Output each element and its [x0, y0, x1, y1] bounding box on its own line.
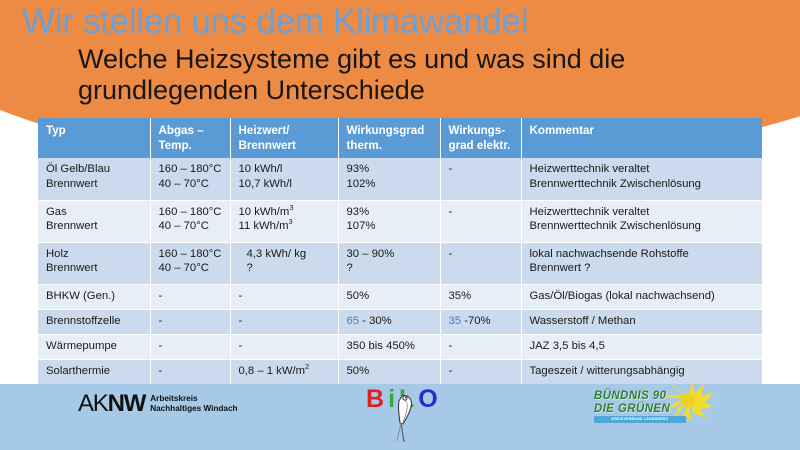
- aknw-logo: AKNW Arbeitskreis Nachhaltiges Windach: [78, 392, 238, 416]
- header-line-1: Abgas –: [159, 124, 224, 139]
- cell-line: -: [449, 364, 515, 379]
- table-row: Wärmepumpe--350 bis 450%-JAZ 3,5 bis 4,5: [38, 334, 762, 359]
- value-rest: -70%: [461, 315, 491, 327]
- cell-line: 160 – 180°C: [159, 162, 224, 177]
- cell-line: ?: [347, 261, 434, 276]
- cell-abgas-temp: -: [150, 309, 230, 334]
- cell-line: -: [449, 247, 515, 262]
- table-header-row: Typ Abgas – Temp. Heizwert/ Brennwert Wi…: [38, 118, 762, 158]
- cell-line: 10,7 kWh/l: [239, 177, 332, 192]
- cell-kommentar: Heizwerttechnik veraltetBrennwerttechnik…: [521, 158, 762, 200]
- cell-abgas-temp: -: [150, 334, 230, 359]
- cell-wirkungsgrad-elektr: 35 -70%: [440, 309, 521, 334]
- col-header-heizwert-brennwert: Heizwert/ Brennwert: [230, 118, 338, 158]
- header-line-1: Wirkungs-: [449, 124, 515, 139]
- cell-typ: GasBrennwert: [38, 200, 150, 242]
- cell-line: Brennstoffzelle: [46, 314, 144, 329]
- slide-title: Wir stellen uns dem Klimawandel: [22, 2, 528, 42]
- header-line-1: Kommentar: [530, 124, 757, 139]
- cell-wirkungsgrad-elektr: -: [440, 242, 521, 284]
- cell-line: -: [449, 339, 515, 354]
- cell-wirkungsgrad-therm: 350 bis 450%: [338, 334, 440, 359]
- table-row: Solarthermie-0,8 – 1 kW/m250%-Tageszeit …: [38, 359, 762, 384]
- cell-wirkungsgrad-elektr: -: [440, 158, 521, 200]
- highlighted-value: 65: [347, 315, 360, 327]
- cell-wirkungsgrad-therm: 93%107%: [338, 200, 440, 242]
- gruene-logo: BÜNDNIS 90 DIE GRÜNEN KREISVERBAND LANDS…: [594, 388, 754, 430]
- cell-kommentar: JAZ 3,5 bis 4,5: [521, 334, 762, 359]
- cell-line: -: [239, 339, 332, 354]
- bird-icon: [388, 390, 422, 444]
- cell-line: 350 bis 450%: [347, 339, 434, 354]
- col-header-abgas-temp: Abgas – Temp.: [150, 118, 230, 158]
- cell-line: Tageszeit / witterungsabhängig: [530, 364, 757, 379]
- cell-line: 35 -70%: [449, 314, 515, 329]
- gruene-line-1: BÜNDNIS 90: [594, 390, 670, 403]
- gruene-wordmark: BÜNDNIS 90 DIE GRÜNEN: [594, 390, 670, 415]
- table-row: GasBrennwert160 – 180°C40 – 70°C10 kWh/m…: [38, 200, 762, 242]
- aknw-mark-thin: AK: [78, 390, 108, 417]
- cell-line: Brennwerttechnik Zwischenlösung: [530, 177, 757, 192]
- cell-wirkungsgrad-elektr: -: [440, 334, 521, 359]
- cell-line: Öl Gelb/Blau: [46, 162, 144, 177]
- cell-wirkungsgrad-therm: 50%: [338, 284, 440, 309]
- cell-kommentar: Gas/Öl/Biogas (lokal nachwachsend): [521, 284, 762, 309]
- heating-systems-table-wrapper: Typ Abgas – Temp. Heizwert/ Brennwert Wi…: [38, 118, 762, 384]
- cell-line: 93%: [347, 205, 434, 220]
- highlighted-value: 35: [449, 315, 462, 327]
- slide-canvas: Wir stellen uns dem Klimawandel Welche H…: [0, 0, 800, 450]
- gruene-line-2: DIE GRÜNEN: [594, 403, 670, 416]
- cell-abgas-temp: 160 – 180°C40 – 70°C: [150, 242, 230, 284]
- cell-line: -: [159, 314, 224, 329]
- table-row: Brennstoffzelle--65 - 30%35 -70%Wasserst…: [38, 309, 762, 334]
- cell-typ: Brennstoffzelle: [38, 309, 150, 334]
- cell-line: 160 – 180°C: [159, 205, 224, 220]
- cell-line: 50%: [347, 289, 434, 304]
- cell-line: lokal nachwachsende Rohstoffe: [530, 247, 757, 262]
- cell-heizwert: -: [230, 334, 338, 359]
- cell-line: -: [159, 289, 224, 304]
- header-line-2: therm.: [347, 139, 434, 154]
- cell-line: -: [159, 339, 224, 354]
- value-rest: - 30%: [359, 315, 392, 327]
- cell-line: Wärmepumpe: [46, 339, 144, 354]
- aknw-subtitle: Arbeitskreis Nachhaltiges Windach: [150, 394, 237, 413]
- cell-line: Gas/Öl/Biogas (lokal nachwachsend): [530, 289, 757, 304]
- cell-line: 102%: [347, 177, 434, 192]
- cell-typ: Öl Gelb/BlauBrennwert: [38, 158, 150, 200]
- cell-line: 0,8 – 1 kW/m2: [239, 364, 332, 379]
- cell-line: Wasserstoff / Methan: [530, 314, 757, 329]
- col-header-wirkungsgrad-elektr: Wirkungs- grad elektr.: [440, 118, 521, 158]
- cell-line: 65 - 30%: [347, 314, 434, 329]
- cell-wirkungsgrad-therm: 30 – 90%?: [338, 242, 440, 284]
- header-line-2: grad elektr.: [449, 139, 515, 154]
- cell-line: Heizwerttechnik veraltet: [530, 162, 757, 177]
- cell-line: 30 – 90%: [347, 247, 434, 262]
- cell-abgas-temp: -: [150, 359, 230, 384]
- aknw-mark-bold: NW: [108, 390, 146, 417]
- cell-line: -: [159, 364, 224, 379]
- aknw-subtitle-line2: Nachhaltiges Windach: [150, 404, 237, 414]
- cell-kommentar: Wasserstoff / Methan: [521, 309, 762, 334]
- cell-heizwert: -: [230, 284, 338, 309]
- cell-line: 93%: [347, 162, 434, 177]
- cell-typ: Solarthermie: [38, 359, 150, 384]
- cell-line: Gas: [46, 205, 144, 220]
- header-line-1: Typ: [46, 124, 144, 139]
- cell-wirkungsgrad-elektr: -: [440, 359, 521, 384]
- cell-heizwert: 0,8 – 1 kW/m2: [230, 359, 338, 384]
- cell-heizwert: 10 kWh/m311 kWh/m3: [230, 200, 338, 242]
- cell-kommentar: lokal nachwachsende RohstoffeBrennwert ?: [521, 242, 762, 284]
- cell-wirkungsgrad-elektr: 35%: [440, 284, 521, 309]
- cell-line: Brennwert: [46, 261, 144, 276]
- bilo-letter-b: B: [366, 385, 388, 413]
- cell-line: -: [239, 314, 332, 329]
- cell-line: 4,3 kWh/ kg: [239, 247, 332, 262]
- cell-wirkungsgrad-therm: 50%: [338, 359, 440, 384]
- cell-line: 10 kWh/m3: [239, 205, 332, 220]
- table-body: Öl Gelb/BlauBrennwert160 – 180°C40 – 70°…: [38, 158, 762, 384]
- cell-typ: Wärmepumpe: [38, 334, 150, 359]
- cell-line: Brennwert: [46, 219, 144, 234]
- cell-heizwert: 4,3 kWh/ kg?: [230, 242, 338, 284]
- cell-wirkungsgrad-elektr: -: [440, 200, 521, 242]
- cell-heizwert: -: [230, 309, 338, 334]
- table-row: Öl Gelb/BlauBrennwert160 – 180°C40 – 70°…: [38, 158, 762, 200]
- cell-line: 11 kWh/m3: [239, 219, 332, 234]
- table-row: HolzBrennwert160 – 180°C40 – 70°C4,3 kWh…: [38, 242, 762, 284]
- slide-subtitle: Welche Heizsysteme gibt es und was sind …: [78, 44, 698, 106]
- header-line-1: Heizwert/: [239, 124, 332, 139]
- cell-line: 10 kWh/l: [239, 162, 332, 177]
- cell-line: JAZ 3,5 bis 4,5: [530, 339, 757, 354]
- cell-line: 40 – 70°C: [159, 219, 224, 234]
- cell-typ: HolzBrennwert: [38, 242, 150, 284]
- heating-systems-table: Typ Abgas – Temp. Heizwert/ Brennwert Wi…: [38, 118, 762, 384]
- cell-line: 160 – 180°C: [159, 247, 224, 262]
- aknw-subtitle-line1: Arbeitskreis: [150, 394, 237, 404]
- gruene-strip-label: KREISVERBAND LANDSBERG: [594, 416, 686, 423]
- cell-kommentar: Tageszeit / witterungsabhängig: [521, 359, 762, 384]
- header-line-2: Temp.: [159, 139, 224, 154]
- cell-line: Holz: [46, 247, 144, 262]
- cell-line: BHKW (Gen.): [46, 289, 144, 304]
- cell-line: Brennwert: [46, 177, 144, 192]
- cell-kommentar: Heizwerttechnik veraltetBrennwerttechnik…: [521, 200, 762, 242]
- col-header-wirkungsgrad-therm: Wirkungsgrad therm.: [338, 118, 440, 158]
- header-line-2: Brennwert: [239, 139, 332, 154]
- table-row: BHKW (Gen.)--50%35%Gas/Öl/Biogas (lokal …: [38, 284, 762, 309]
- cell-abgas-temp: 160 – 180°C40 – 70°C: [150, 158, 230, 200]
- col-header-typ: Typ: [38, 118, 150, 158]
- cell-line: -: [239, 289, 332, 304]
- cell-line: 40 – 70°C: [159, 177, 224, 192]
- cell-abgas-temp: -: [150, 284, 230, 309]
- header-line-1: Wirkungsgrad: [347, 124, 434, 139]
- aknw-wordmark: AKNW: [78, 392, 145, 416]
- cell-line: ?: [239, 261, 332, 276]
- cell-wirkungsgrad-therm: 93%102%: [338, 158, 440, 200]
- cell-abgas-temp: 160 – 180°C40 – 70°C: [150, 200, 230, 242]
- cell-line: -: [449, 162, 515, 177]
- cell-line: Brennwerttechnik Zwischenlösung: [530, 219, 757, 234]
- cell-line: 35%: [449, 289, 515, 304]
- cell-line: 107%: [347, 219, 434, 234]
- cell-line: Solarthermie: [46, 364, 144, 379]
- cell-line: Heizwerttechnik veraltet: [530, 205, 757, 220]
- cell-line: 40 – 70°C: [159, 261, 224, 276]
- cell-line: Brennwert ?: [530, 261, 757, 276]
- cell-line: 50%: [347, 364, 434, 379]
- cell-typ: BHKW (Gen.): [38, 284, 150, 309]
- col-header-kommentar: Kommentar: [521, 118, 762, 158]
- bilo-logo: BiLO: [366, 386, 458, 444]
- cell-line: -: [449, 205, 515, 220]
- cell-heizwert: 10 kWh/l10,7 kWh/l: [230, 158, 338, 200]
- cell-wirkungsgrad-therm: 65 - 30%: [338, 309, 440, 334]
